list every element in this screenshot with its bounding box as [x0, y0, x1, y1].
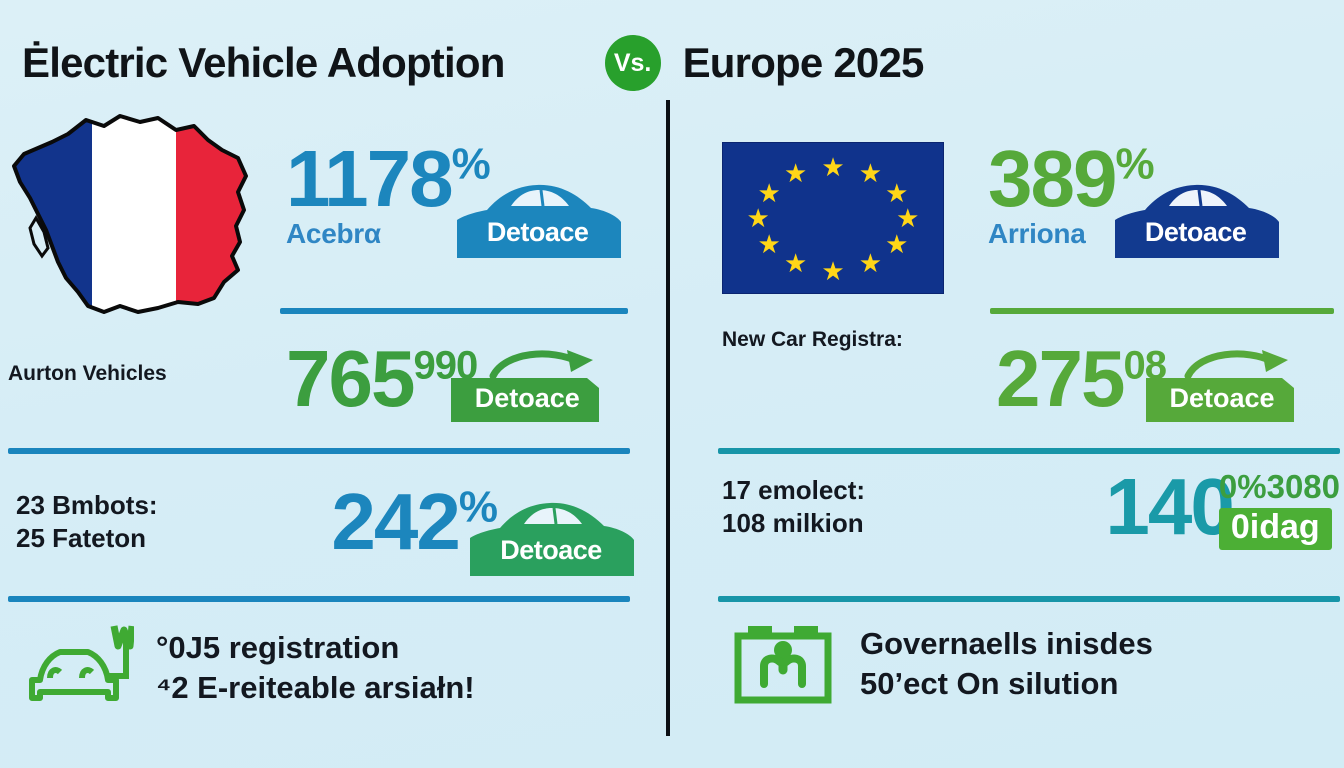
left-stat-1-value: 1178 [286, 134, 452, 223]
left-footer-line2: ⁴2 E-reiteable arsiałn! [156, 668, 475, 708]
right-stat-3-value: 140 [1105, 462, 1232, 551]
eu-stars-group: ★ ★ ★ ★ ★ ★ ★ ★ ★ ★ ★ ★ [723, 143, 943, 293]
eu-flag-block: ★ ★ ★ ★ ★ ★ ★ ★ ★ ★ ★ ★ New Car Registra… [722, 142, 972, 352]
right-stat-2-number: 27508 [996, 342, 1166, 416]
header: Ėlectric Vehicle Adoption Vs. Europe 202… [0, 20, 1344, 106]
right-footer-block: Governaells inisdes 50ʼect On silution [730, 618, 1153, 710]
right-stat-row-3: 17 emolect: 108 milkion 140 0%3080 0idag [722, 464, 1340, 550]
pill-badge-icon: 0idag [1219, 508, 1332, 550]
right-footer-text: Governaells inisdes 50ʼect On silution [860, 624, 1153, 705]
right-stat-3-label-line1: 17 emolect: [722, 474, 865, 507]
left-stat-3-label-line1: 23 Bmbots: [16, 489, 158, 522]
left-footer-block: °0J5 registration ⁴2 E-reiteable arsiałn… [26, 622, 475, 714]
right-stat-row-1: 389% Arriona Detoace [988, 130, 1281, 262]
battery-plug-icon [730, 618, 838, 710]
left-divider-3 [8, 596, 630, 602]
right-stat-3-label-line2: 108 milkion [722, 507, 865, 540]
left-stat-row-3: 23 Bmbots: 25 Fateton 242% Detoace [16, 464, 636, 580]
left-stat-2-badge-label: Detoace [447, 383, 607, 414]
left-stat-3-badge-label: Detoace [466, 535, 636, 566]
right-stat-row-2: 27508 Detoace [996, 332, 1302, 426]
right-stat-1-value: 389 [988, 134, 1115, 223]
left-stat-row-2: 765990 Detoace [286, 332, 607, 426]
left-divider-1 [280, 308, 628, 314]
panel-divider [666, 100, 670, 736]
left-footer-text: °0J5 registration ⁴2 E-reiteable arsiałn… [156, 628, 475, 709]
page-title-left: Ėlectric Vehicle Adoption [22, 39, 505, 87]
left-divider-2 [8, 448, 630, 454]
arrow-box-icon: Detoace [447, 348, 607, 426]
right-stat-1-badge-label: Detoace [1111, 217, 1281, 248]
left-stat-3-label: 23 Bmbots: 25 Fateton [16, 489, 158, 556]
car-icon: Detoace [466, 494, 636, 580]
right-stat-3-label: 17 emolect: 108 milkion [722, 474, 865, 541]
left-panel: Aurton Vehicles 1178% Acebrα Detoace [8, 106, 648, 768]
left-stat-1-badge-label: Detoace [453, 217, 623, 248]
eu-flag-icon: ★ ★ ★ ★ ★ ★ ★ ★ ★ ★ ★ ★ [722, 142, 944, 294]
right-stat-3-annotation: 0%3080 [1219, 468, 1340, 506]
eu-flag-label: New Car Registra: [722, 328, 972, 352]
right-footer-line1: Governaells inisdes [860, 624, 1153, 664]
france-map-flag-icon [8, 106, 258, 336]
left-stat-3-value: 242 [331, 477, 458, 566]
left-stat-row-1: 1178% Acebrα Detoace [286, 130, 623, 262]
right-divider-1 [990, 308, 1334, 314]
right-divider-2 [718, 448, 1340, 454]
page-title-right: Europe 2025 [683, 39, 924, 87]
right-panel: ★ ★ ★ ★ ★ ★ ★ ★ ★ ★ ★ ★ New Car Registra… [700, 106, 1340, 768]
left-stat-3-label-line2: 25 Fateton [16, 522, 158, 555]
ev-charging-car-icon [26, 622, 134, 714]
right-divider-3 [718, 596, 1340, 602]
car-icon: Detoace [453, 176, 623, 262]
right-stat-2-badge-label: Detoace [1142, 383, 1302, 414]
left-stat-2-value: 765 [286, 334, 413, 423]
right-stat-3-number: 140 [1105, 470, 1232, 544]
france-flag-block: Aurton Vehicles [8, 106, 258, 386]
car-icon: Detoace [1111, 176, 1281, 262]
right-footer-line2: 50ʼect On silution [860, 664, 1153, 704]
right-stat-2-value: 275 [996, 334, 1123, 423]
infographic-canvas: Ėlectric Vehicle Adoption Vs. Europe 202… [0, 0, 1344, 768]
arrow-box-icon: Detoace [1142, 348, 1302, 426]
vs-badge: Vs. [605, 35, 661, 91]
france-flag-label: Aurton Vehicles [8, 362, 258, 386]
left-footer-line1: °0J5 registration [156, 628, 475, 668]
